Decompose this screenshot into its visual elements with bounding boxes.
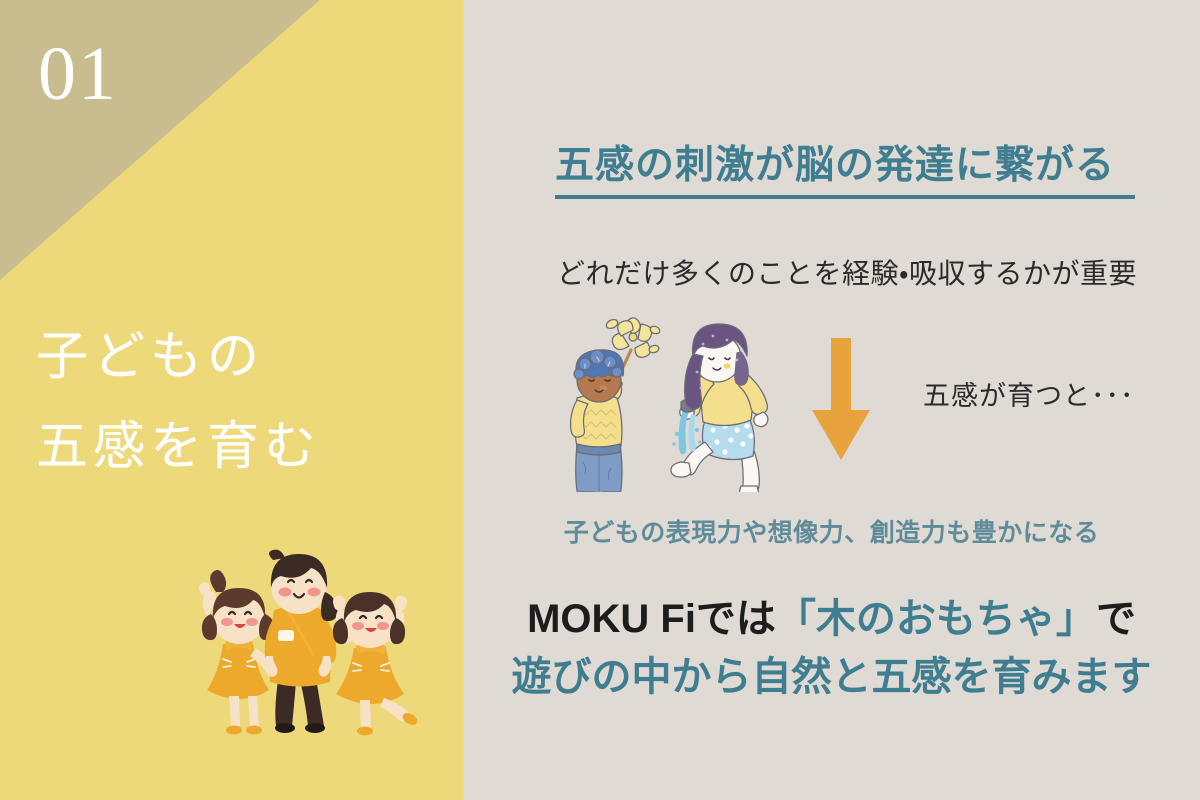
closing-brand-text: MOKU Fiでは [527,597,776,641]
right-panel: 五感の刺激が脳の発達に繋がる どれだけ多くのことを経験・吸収するかが重要 [463,0,1200,800]
closing-particle-text: で [1096,597,1136,641]
page-title-line-2: 五感を育む [36,402,321,492]
left-panel: 01 子どもの 五感を育む [0,0,463,800]
closing-highlight-text: 「木のおもちゃ」 [776,597,1096,641]
closing-statement: MOKU Fiでは「木のおもちゃ」で 遊びの中から自然と五感を育みます [463,590,1200,706]
closing-line-2: 遊びの中から自然と五感を育みます [463,648,1200,706]
page-title: 子どもの 五感を育む [36,312,321,492]
slide-root: 01 子どもの 五感を育む [0,0,1200,800]
section-subheading: どれだけ多くのことを経験・吸収するかが重要 [557,252,1137,292]
closing-line-1: MOKU Fiでは「木のおもちゃ」で [463,590,1200,648]
section-heading: 五感の刺激が脳の発達に繋がる [555,143,1135,199]
slide-number: 01 [38,36,118,112]
two-children-playing-illustration [555,302,805,492]
down-arrow-icon [808,338,874,462]
benefit-statement: 子どもの表現力や想像力、創造力も豊かになる [463,513,1200,549]
page-title-line-1: 子どもの [36,312,321,402]
mother-with-two-girls-illustration [178,548,418,753]
outcome-note: 五感が育つと･･･ [923,374,1135,413]
